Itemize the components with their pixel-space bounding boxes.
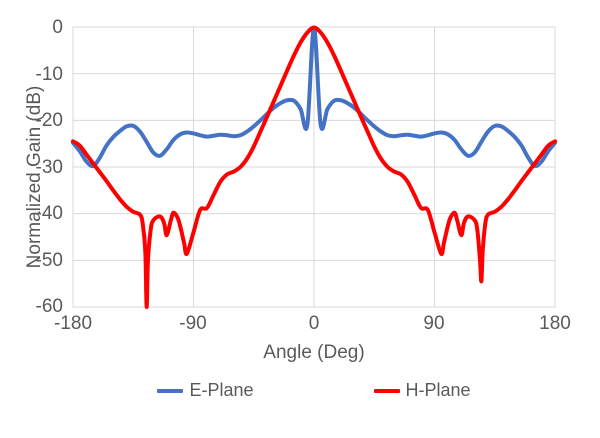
x-tick-label-90: 90 <box>394 313 474 335</box>
legend-swatch-h-plane <box>374 389 400 393</box>
y-tick-label-0: 0 <box>3 17 63 39</box>
x-tick-label-0: 0 <box>274 313 354 335</box>
legend-label-h-plane: H-Plane <box>406 380 471 401</box>
x-tick-label-m90: -90 <box>153 313 233 335</box>
plot-svg <box>0 0 600 438</box>
antenna-radiation-pattern-chart: 0 -10 -20 -30 -40 -50 -60 -180 -90 0 90 … <box>0 0 600 438</box>
x-tick-label-180: 180 <box>515 313 595 335</box>
x-tick-label-m180: -180 <box>33 313 113 335</box>
x-axis-title: Angle (Deg) <box>73 342 555 364</box>
legend-swatch-e-plane <box>157 389 183 393</box>
legend-entry-e-plane[interactable]: E-Plane <box>157 380 253 401</box>
y-axis-title: Normalized Gain (dB) <box>24 57 46 297</box>
legend-entry-h-plane[interactable]: H-Plane <box>374 380 471 401</box>
legend-label-e-plane: E-Plane <box>189 380 253 401</box>
chart-legend: E-Plane H-Plane <box>73 380 555 401</box>
